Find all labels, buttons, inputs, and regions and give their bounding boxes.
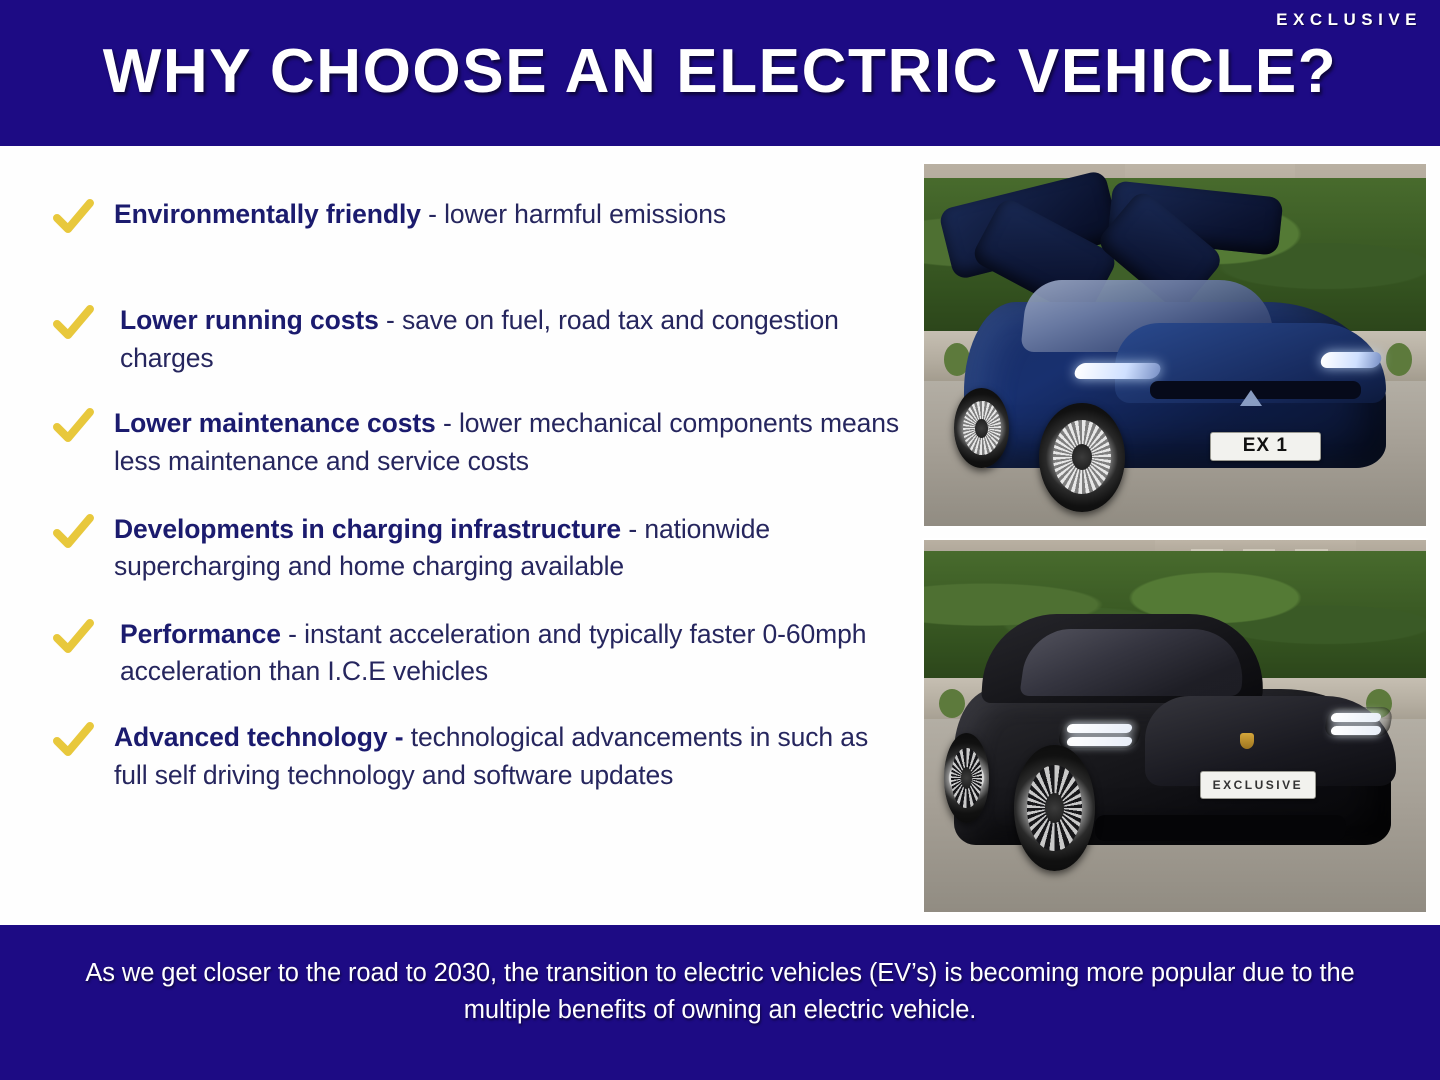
- check-icon: [50, 614, 96, 660]
- wheel-hub: [961, 767, 972, 788]
- check-icon: [50, 194, 96, 240]
- tesla-rear-wheel: [954, 388, 1009, 468]
- porsche-rear-wheel: [944, 733, 989, 822]
- porsche-windscreen: [1020, 629, 1250, 696]
- benefit-item-environmentally-friendly: Environmentally friendly - lower harmful…: [46, 196, 906, 258]
- tesla-model-x-photo: EX 1: [922, 162, 1428, 528]
- tesla-license-plate: EX 1: [1210, 432, 1320, 461]
- baluster-gap: [1386, 343, 1412, 375]
- benefits-list: Environmentally friendly - lower harmful…: [46, 196, 906, 794]
- porsche-led-strip: [1066, 737, 1133, 746]
- porsche-lower-grille: [1095, 815, 1346, 841]
- porsche-front-wheel: [1014, 745, 1094, 871]
- benefit-term: Performance: [120, 619, 281, 649]
- benefit-text: Lower maintenance costs - lower mechanic…: [114, 405, 906, 480]
- porsche-led-strip: [1330, 726, 1382, 735]
- porsche-led-strip: [1330, 713, 1382, 722]
- porsche-scene: EXCLUSIVE: [924, 540, 1426, 912]
- slide-body: Environmentally friendly - lower harmful…: [0, 146, 1440, 925]
- tesla-scene: EX 1: [924, 164, 1426, 526]
- wheel-hub: [1045, 793, 1064, 823]
- porsche-license-plate: EXCLUSIVE: [1200, 771, 1315, 799]
- footer-band: As we get closer to the road to 2030, th…: [0, 925, 1440, 1080]
- benefit-term: Developments in charging infrastructure: [114, 514, 621, 544]
- tesla-front-wheel: [1039, 403, 1124, 512]
- check-icon: [50, 717, 96, 763]
- header-band: EXCLUSIVE WHY CHOOSE AN ELECTRIC VEHICLE…: [0, 0, 1440, 146]
- benefit-text: Performance - instant acceleration and t…: [120, 616, 906, 691]
- tesla-headlight-left: [1072, 363, 1163, 379]
- benefit-item-lower-running-costs: Lower running costs - save on fuel, road…: [46, 302, 906, 377]
- benefit-item-charging-infrastructure: Developments in charging infrastructure …: [46, 511, 906, 586]
- check-icon: [50, 509, 96, 555]
- benefit-term: Environmentally friendly: [114, 199, 421, 229]
- benefit-text: Developments in charging infrastructure …: [114, 511, 906, 586]
- benefit-item-lower-maintenance-costs: Lower maintenance costs - lower mechanic…: [46, 405, 906, 480]
- benefit-description: - lower harmful emissions: [421, 199, 726, 229]
- tesla-headlight-right: [1319, 352, 1383, 368]
- check-icon: [50, 403, 96, 449]
- benefit-text: Advanced technology - technological adva…: [114, 719, 906, 794]
- benefit-term: Lower maintenance costs: [114, 408, 436, 438]
- porsche-taycan-photo: EXCLUSIVE: [922, 538, 1428, 914]
- check-icon: [50, 300, 96, 346]
- benefit-item-performance: Performance - instant acceleration and t…: [46, 616, 906, 691]
- tesla-logo-icon: [1240, 390, 1262, 406]
- benefit-term: Advanced technology -: [114, 722, 403, 752]
- porsche-led-strip: [1066, 724, 1133, 733]
- page-title: WHY CHOOSE AN ELECTRIC VEHICLE?: [0, 36, 1440, 107]
- benefit-term: Lower running costs: [120, 305, 379, 335]
- footer-caption: As we get closer to the road to 2030, th…: [55, 955, 1385, 1029]
- benefit-text: Environmentally friendly - lower harmful…: [114, 196, 906, 234]
- brand-logo-exclusive: EXCLUSIVE: [1276, 10, 1422, 30]
- photo-stack: EX 1: [922, 162, 1428, 914]
- benefit-text: Lower running costs - save on fuel, road…: [120, 302, 906, 377]
- benefit-item-advanced-technology: Advanced technology - technological adva…: [46, 719, 906, 794]
